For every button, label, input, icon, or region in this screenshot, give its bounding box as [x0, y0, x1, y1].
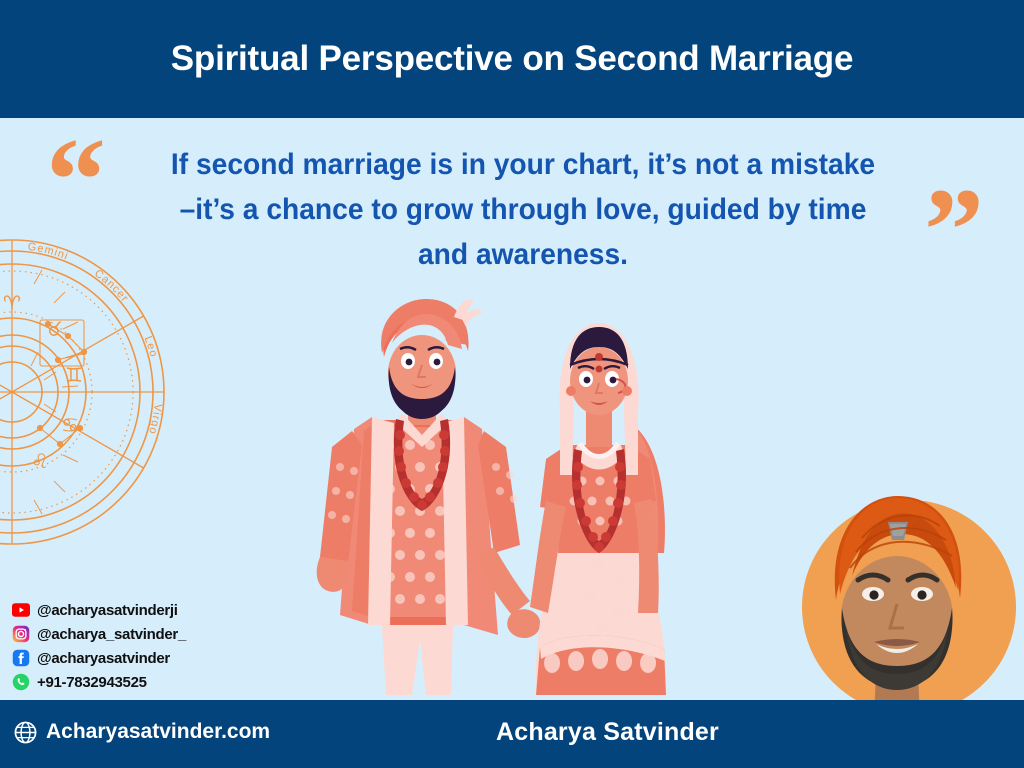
facebook-icon [12, 649, 30, 667]
quote-block: “ ” If second marriage is in your chart,… [40, 138, 990, 298]
page-title: Spiritual Perspective on Second Marriage [171, 39, 854, 79]
svg-text:♉: ♉ [45, 317, 63, 341]
svg-text:Leo: Leo [142, 335, 160, 359]
svg-text:♋: ♋ [61, 413, 79, 437]
quote-line-3: and awareness. [142, 232, 903, 277]
svg-text:♊: ♊ [65, 363, 83, 387]
footer-website-link[interactable]: Acharyasatvinder.com [14, 720, 270, 744]
zodiac-label-leo: Leo [142, 335, 160, 359]
bride-figure [530, 323, 666, 695]
poster-canvas: Spiritual Perspective on Second Marriage [0, 0, 1024, 768]
header-bar: Spiritual Perspective on Second Marriage [0, 0, 1024, 118]
footer-brand-name: Acharya Satvinder [496, 718, 719, 747]
quote-text: If second marriage is in your chart, it’… [142, 142, 903, 277]
whatsapp-icon [12, 673, 30, 691]
indian-wedding-couple-illustration [268, 295, 678, 707]
quote-line-1: If second marriage is in your chart, it’… [142, 142, 903, 187]
social-row-whatsapp[interactable]: +91-7832943525 [12, 670, 262, 694]
footer-website-text: Acharyasatvinder.com [46, 720, 270, 744]
svg-text:♈: ♈ [3, 291, 21, 315]
groom-figure [317, 299, 530, 695]
globe-icon [14, 721, 37, 744]
svg-text:♌: ♌ [31, 449, 49, 473]
open-quote-icon: “ [46, 120, 106, 240]
social-row-facebook[interactable]: @acharyasatvinder [12, 646, 262, 670]
social-handles-list: @acharyasatvinderji @acharya_satvinder_ [12, 598, 262, 694]
social-row-youtube[interactable]: @acharyasatvinderji [12, 598, 262, 622]
instagram-icon [12, 625, 30, 643]
social-row-instagram[interactable]: @acharya_satvinder_ [12, 622, 262, 646]
youtube-icon [12, 601, 30, 619]
social-handle-facebook: @acharyasatvinder [37, 650, 170, 667]
zodiac-label-virgo: Virgo [146, 403, 164, 436]
close-quote-icon: ” [924, 170, 984, 290]
svg-text:Virgo: Virgo [146, 403, 164, 436]
social-handle-instagram: @acharya_satvinder_ [37, 626, 186, 643]
quote-line-2: –it’s a chance to grow through love, gui… [142, 187, 903, 232]
social-handle-youtube: @acharyasatvinderji [37, 602, 178, 619]
social-handle-whatsapp: +91-7832943525 [37, 674, 147, 691]
